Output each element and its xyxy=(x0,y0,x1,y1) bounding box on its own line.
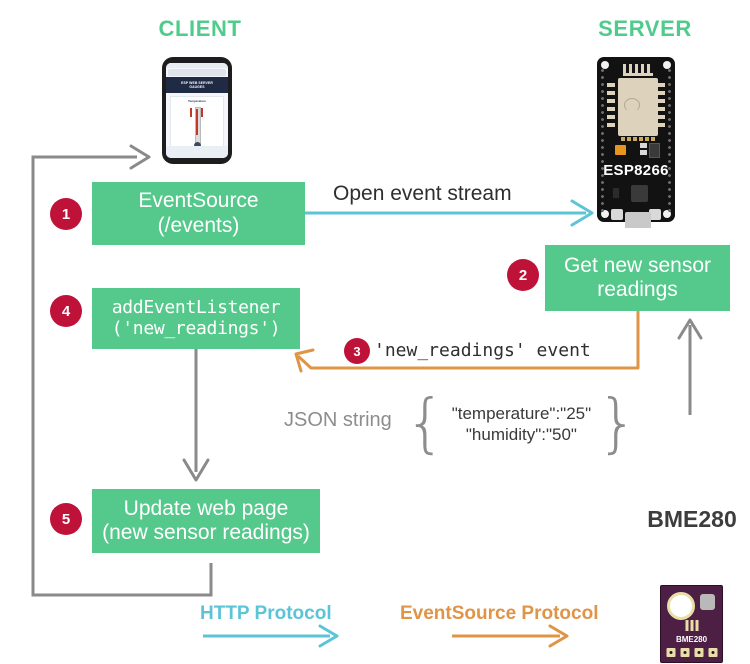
phone-screen: ESP WEB SERVER GAUGES Temperature xyxy=(166,63,228,158)
esp-regulator xyxy=(615,145,626,155)
step-box-eventsource[interactable]: EventSource (/events) xyxy=(92,182,305,245)
bme-chip xyxy=(700,594,715,610)
bme280-board: BME280 xyxy=(660,585,723,663)
client-title: CLIENT xyxy=(135,16,265,42)
phone-page-header: ESP WEB SERVER GAUGES xyxy=(166,77,228,93)
phone-browser-nav-bar xyxy=(166,146,228,158)
esp-pin-row-left xyxy=(600,67,605,212)
json-close-brace: } xyxy=(597,392,638,456)
legend-eventsource-arrow xyxy=(452,626,567,646)
esp-capacitor xyxy=(613,188,619,198)
step4-line2: ('new_readings') xyxy=(112,319,281,340)
esp-left-pads xyxy=(607,83,615,127)
open-event-stream-label: Open event stream xyxy=(333,182,512,206)
step-box-update-page[interactable]: Update web page (new sensor readings) xyxy=(92,489,320,553)
step-badge-4: 4 xyxy=(50,295,82,327)
server-title: SERVER xyxy=(575,16,715,42)
sensor-to-server-arrow xyxy=(679,320,701,415)
phone-status-bar xyxy=(166,63,228,68)
step-box-get-readings[interactable]: Get new sensor readings xyxy=(545,245,730,311)
diagram-canvas: CLIENT SERVER ESP WEB SERVER GAUGES Temp… xyxy=(0,0,750,664)
json-string-group: { "temperature":"25" "humidity":"50" } xyxy=(405,392,638,456)
esp-board-label: ESP8266 xyxy=(597,162,675,179)
legend-http-label: HTTP Protocol xyxy=(200,603,332,625)
legend-eventsource-label: EventSource Protocol xyxy=(400,603,599,625)
step4-line1: addEventListener xyxy=(112,298,281,319)
step-badge-3: 3 xyxy=(344,338,370,364)
esp-smd-part xyxy=(640,150,647,155)
step2-line1: Get new sensor xyxy=(564,254,711,278)
esp-module-pads xyxy=(621,137,655,141)
legend-http-arrow xyxy=(203,626,337,646)
step-badge-2: 2 xyxy=(507,259,539,291)
phone-url-bar xyxy=(168,69,226,76)
step5-line1: Update web page xyxy=(124,497,289,521)
esp-flash-button xyxy=(611,209,623,220)
phone-gauge-label: Temperature xyxy=(188,99,206,103)
bme280-caption: BME280 xyxy=(636,506,748,533)
step1-line2: (/events) xyxy=(158,214,240,238)
new-readings-event-label: 'new_readings' event xyxy=(374,340,591,361)
json-open-brace: { xyxy=(405,392,446,456)
json-line-temperature: "temperature":"25" xyxy=(452,403,591,424)
esp-pin-row-right xyxy=(667,67,672,212)
esp-usb-ic xyxy=(631,185,648,202)
bme-logo-bars xyxy=(685,620,698,631)
esp-rf-shield xyxy=(618,78,658,136)
bme-solder-pads xyxy=(666,648,717,657)
step1-line1: EventSource xyxy=(138,189,258,213)
step-badge-5: 5 xyxy=(50,503,82,535)
client-phone-device: ESP WEB SERVER GAUGES Temperature xyxy=(162,57,232,164)
phone-thermometer-icon xyxy=(187,105,207,149)
step-box-add-listener[interactable]: addEventListener ('new_readings') xyxy=(92,288,300,349)
listener-to-update-arrow xyxy=(184,348,208,480)
bme-board-silkscreen: BME280 xyxy=(661,635,722,644)
esp-pcb-antenna xyxy=(623,64,653,76)
json-body: "temperature":"25" "humidity":"50" xyxy=(452,403,591,446)
json-line-humidity: "humidity":"50" xyxy=(452,424,591,445)
step2-line2: readings xyxy=(597,278,678,302)
step-badge-1: 1 xyxy=(50,198,82,230)
esp-ic-small xyxy=(649,143,660,158)
esp-right-pads xyxy=(657,83,665,127)
esp-smd-part xyxy=(640,143,647,148)
step5-line2: (new sensor readings) xyxy=(102,521,310,545)
json-string-label: JSON string xyxy=(284,409,392,432)
bme-sensor-dome xyxy=(667,592,695,620)
esp-micro-usb-port xyxy=(625,212,651,228)
esp8266-board: ESP8266 xyxy=(597,57,675,222)
phone-header-line2: GAUGES xyxy=(189,85,204,89)
